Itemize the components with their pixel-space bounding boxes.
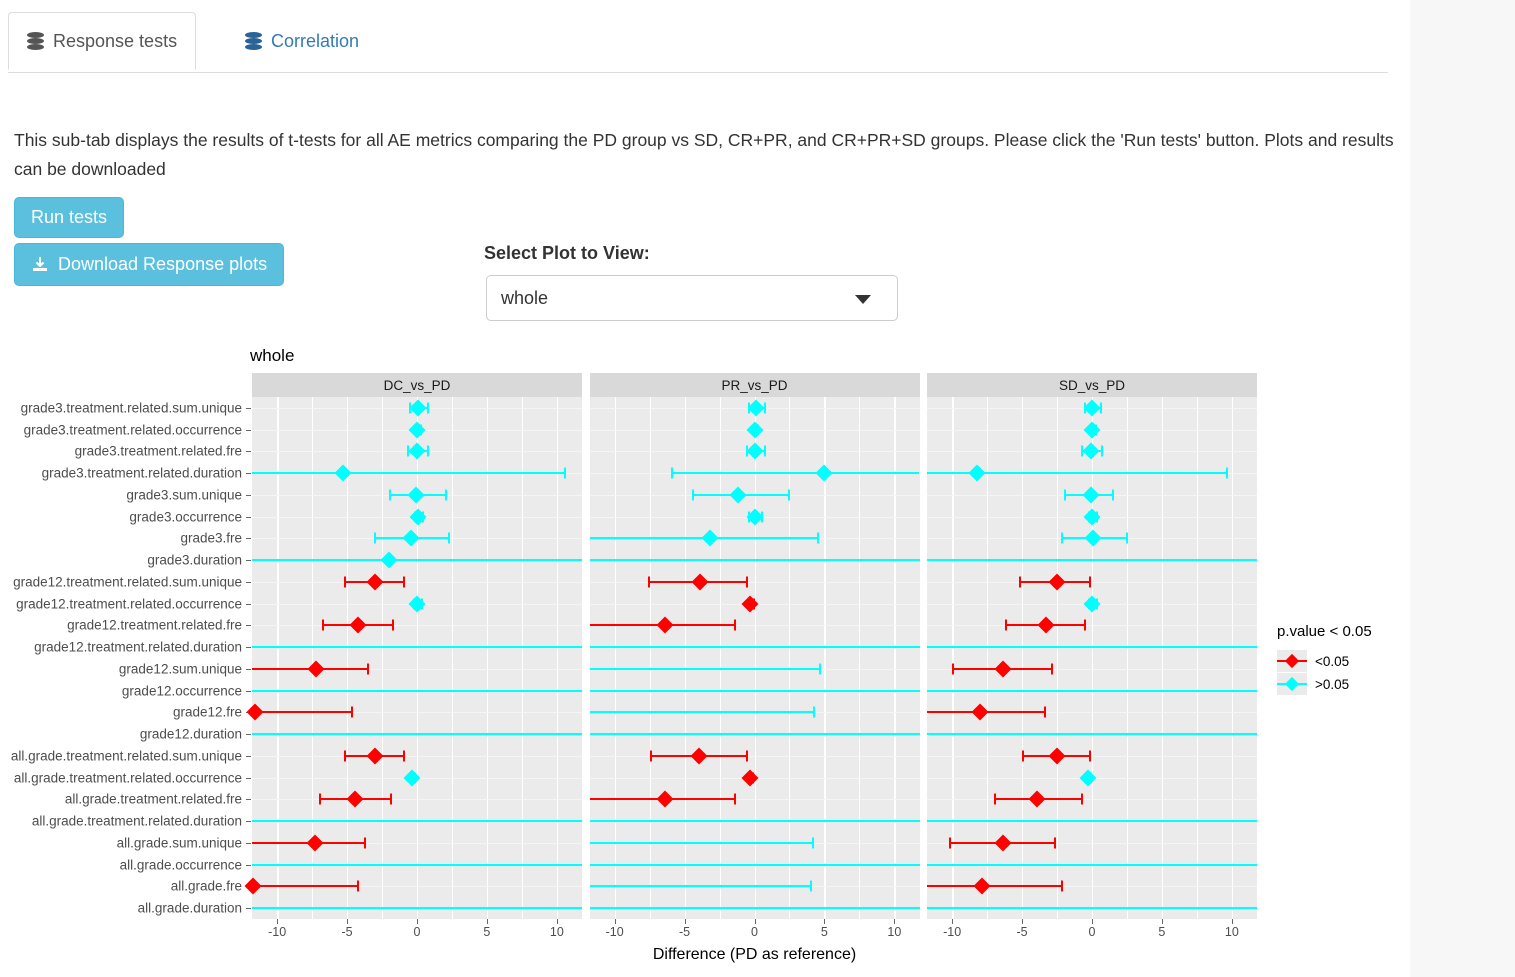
database-icon <box>27 32 44 50</box>
confidence-interval <box>927 885 1061 887</box>
x-tick-mark <box>952 919 953 924</box>
ci-whisker <box>344 750 346 761</box>
x-tick-mark <box>685 919 686 924</box>
y-tick-mark <box>246 408 251 409</box>
y-tick-mark <box>246 582 251 583</box>
ci-whisker <box>812 837 814 848</box>
ci-whisker <box>817 533 819 544</box>
ci-whisker <box>1064 489 1066 500</box>
tab-bar: Response tests Correlation <box>8 12 1388 73</box>
run-tests-label: Run tests <box>31 207 107 228</box>
y-axis-label: grade12.duration <box>0 727 242 742</box>
x-tick-mark <box>755 919 756 924</box>
confidence-interval <box>252 885 357 887</box>
ci-whisker <box>322 620 324 631</box>
select-plot-label: Select Plot to View: <box>484 243 650 264</box>
x-tick-label: -5 <box>1017 925 1028 939</box>
ci-whisker <box>1126 533 1128 544</box>
y-tick-mark <box>246 451 251 452</box>
ci-whisker <box>392 620 394 631</box>
x-tick-label: -5 <box>342 925 353 939</box>
download-icon <box>31 256 49 274</box>
y-tick-mark <box>246 430 251 431</box>
tab-label: Correlation <box>271 31 359 52</box>
x-tick-label: 0 <box>751 925 758 939</box>
y-axis-label: grade12.treatment.related.fre <box>0 618 242 633</box>
y-tick-mark <box>246 473 251 474</box>
y-axis-label: grade12.occurrence <box>0 683 242 698</box>
confidence-interval <box>252 907 582 909</box>
facet-panel <box>590 397 920 919</box>
y-axis-label: all.grade.duration <box>0 901 242 916</box>
confidence-interval <box>927 733 1257 735</box>
y-tick-mark <box>246 821 251 822</box>
confidence-interval <box>252 690 582 692</box>
ci-whisker <box>746 750 748 761</box>
ci-whisker <box>364 837 366 848</box>
legend-key <box>1277 673 1307 695</box>
ci-whisker <box>403 750 405 761</box>
facet-header: DC_vs_PD <box>252 373 582 397</box>
confidence-interval <box>252 820 582 822</box>
x-tick-mark <box>277 919 278 924</box>
confidence-interval <box>590 690 920 692</box>
confidence-interval <box>927 820 1257 822</box>
x-tick-label: 5 <box>483 925 490 939</box>
confidence-interval <box>590 885 811 887</box>
select-plot-dropdown[interactable]: whole <box>486 275 898 321</box>
confidence-interval <box>590 646 920 648</box>
confidence-interval <box>590 559 920 561</box>
y-axis-label: all.grade.treatment.related.occurrence <box>0 770 242 785</box>
x-tick-mark <box>1162 919 1163 924</box>
x-tick-mark <box>1092 919 1093 924</box>
y-axis-label: grade3.treatment.related.duration <box>0 466 242 481</box>
y-tick-mark <box>246 495 251 496</box>
y-tick-mark <box>246 734 251 735</box>
x-tick-label: -10 <box>268 925 286 939</box>
ci-whisker <box>1061 533 1063 544</box>
tab-response-tests[interactable]: Response tests <box>8 12 196 70</box>
tab-label: Response tests <box>53 31 177 52</box>
y-axis-label: all.grade.treatment.related.sum.unique <box>0 748 242 763</box>
y-axis-label: grade3.treatment.related.occurrence <box>0 422 242 437</box>
x-tick-mark <box>824 919 825 924</box>
ci-whisker <box>1089 750 1091 761</box>
x-tick-mark <box>1232 919 1233 924</box>
confidence-interval <box>590 864 920 866</box>
x-tick-label: 10 <box>1225 925 1239 939</box>
ci-whisker <box>1112 489 1114 500</box>
ci-whisker <box>319 794 321 805</box>
ci-whisker <box>1022 750 1024 761</box>
ci-whisker <box>1044 707 1046 718</box>
ci-whisker <box>1081 794 1083 805</box>
y-axis-label: all.grade.occurrence <box>0 857 242 872</box>
ci-whisker <box>734 794 736 805</box>
x-tick-mark <box>417 919 418 924</box>
legend-label: <0.05 <box>1315 654 1349 669</box>
y-axis-label: grade12.sum.unique <box>0 661 242 676</box>
confidence-interval <box>590 668 819 670</box>
y-tick-mark <box>246 625 251 626</box>
ci-whisker <box>1084 620 1086 631</box>
x-tick-label: 5 <box>821 925 828 939</box>
ci-whisker <box>564 468 566 479</box>
chevron-down-icon <box>855 295 871 304</box>
ci-whisker <box>952 663 954 674</box>
facet-header: PR_vs_PD <box>590 373 920 397</box>
x-tick-label: 10 <box>887 925 901 939</box>
confidence-interval <box>927 646 1257 648</box>
y-axis-label: all.grade.treatment.related.duration <box>0 814 242 829</box>
y-axis-label: grade3.occurrence <box>0 509 242 524</box>
y-tick-mark <box>246 799 251 800</box>
confidence-interval <box>252 646 582 648</box>
ci-whisker <box>357 881 359 892</box>
confidence-interval <box>927 690 1257 692</box>
app-page: Response tests Correlation This sub-tab … <box>0 0 1410 977</box>
ci-whisker <box>1089 576 1091 587</box>
confidence-interval <box>590 733 920 735</box>
ci-whisker <box>1226 468 1228 479</box>
ci-whisker <box>1051 663 1053 674</box>
run-tests-button[interactable]: Run tests <box>14 197 124 238</box>
ci-whisker <box>764 446 766 457</box>
x-tick-label: 0 <box>1089 925 1096 939</box>
ci-whisker <box>1054 837 1056 848</box>
subtab-description: This sub-tab displays the results of t-t… <box>14 126 1394 184</box>
x-tick-mark <box>1022 919 1023 924</box>
confidence-interval <box>927 864 1257 866</box>
confidence-interval <box>252 472 564 474</box>
y-tick-mark <box>246 604 251 605</box>
ci-whisker <box>367 663 369 674</box>
tab-correlation[interactable]: Correlation <box>226 12 378 70</box>
ci-whisker <box>403 576 405 587</box>
y-axis-label: grade12.treatment.related.occurrence <box>0 596 242 611</box>
x-tick-label: 5 <box>1158 925 1165 939</box>
x-tick-label: -10 <box>943 925 961 939</box>
ci-whisker <box>389 489 391 500</box>
download-response-plots-button[interactable]: Download Response plots <box>14 243 284 286</box>
ci-whisker <box>788 489 790 500</box>
x-tick-mark <box>487 919 488 924</box>
confidence-interval <box>927 907 1257 909</box>
ci-whisker <box>813 707 815 718</box>
ci-whisker <box>810 881 812 892</box>
confidence-interval <box>927 559 1257 561</box>
ci-whisker <box>374 533 376 544</box>
x-tick-mark <box>894 919 895 924</box>
y-axis-label: grade3.treatment.related.fre <box>0 444 242 459</box>
y-tick-mark <box>246 517 251 518</box>
download-plots-label: Download Response plots <box>58 254 267 275</box>
y-axis-label: grade12.treatment.related.sum.unique <box>0 574 242 589</box>
ci-whisker <box>949 837 951 848</box>
facet-header: SD_vs_PD <box>927 373 1257 397</box>
ci-whisker <box>1061 881 1063 892</box>
x-axis-title: Difference (PD as reference) <box>653 946 856 964</box>
y-tick-mark <box>246 691 251 692</box>
confidence-interval <box>252 733 582 735</box>
y-axis-label: all.grade.sum.unique <box>0 835 242 850</box>
facet-panel <box>252 397 582 919</box>
y-axis-label: grade3.fre <box>0 531 242 546</box>
y-tick-mark <box>246 865 251 866</box>
ci-whisker <box>1019 576 1021 587</box>
y-tick-mark <box>246 908 251 909</box>
confidence-interval <box>590 820 920 822</box>
confidence-interval <box>590 842 812 844</box>
y-axis-label: grade3.treatment.related.sum.unique <box>0 400 242 415</box>
x-tick-label: 10 <box>550 925 564 939</box>
ci-whisker <box>448 533 450 544</box>
ci-whisker <box>1005 620 1007 631</box>
y-tick-mark <box>246 538 251 539</box>
ci-whisker <box>344 576 346 587</box>
y-axis-label: grade3.duration <box>0 553 242 568</box>
plot-title: whole <box>250 346 294 366</box>
y-axis-label: grade12.fre <box>0 705 242 720</box>
y-axis-label: grade3.sum.unique <box>0 487 242 502</box>
y-tick-mark <box>246 756 251 757</box>
legend-title: p.value < 0.05 <box>1277 623 1372 640</box>
ci-whisker <box>650 750 652 761</box>
ci-whisker <box>390 794 392 805</box>
x-tick-mark <box>615 919 616 924</box>
ci-whisker <box>427 446 429 457</box>
ci-whisker <box>746 576 748 587</box>
ci-whisker <box>819 663 821 674</box>
y-tick-mark <box>246 778 251 779</box>
x-tick-label: -10 <box>606 925 624 939</box>
y-tick-mark <box>246 669 251 670</box>
y-tick-mark <box>246 560 251 561</box>
ci-whisker <box>671 468 673 479</box>
x-tick-label: -5 <box>679 925 690 939</box>
ci-whisker <box>692 489 694 500</box>
confidence-interval <box>671 472 920 474</box>
y-axis-label: all.grade.fre <box>0 879 242 894</box>
y-tick-mark <box>246 843 251 844</box>
confidence-interval <box>252 559 582 561</box>
legend-label: >0.05 <box>1315 677 1349 692</box>
y-axis-label: grade12.treatment.related.duration <box>0 640 242 655</box>
ci-whisker <box>1101 446 1103 457</box>
confidence-interval <box>590 711 814 713</box>
x-tick-label: 0 <box>414 925 421 939</box>
ci-whisker <box>994 794 996 805</box>
y-axis-label: all.grade.treatment.related.fre <box>0 792 242 807</box>
database-icon <box>245 32 262 50</box>
select-plot-value: whole <box>501 288 548 309</box>
ci-whisker <box>734 620 736 631</box>
x-tick-mark <box>557 919 558 924</box>
y-tick-mark <box>246 647 251 648</box>
confidence-interval <box>590 907 920 909</box>
ci-whisker <box>445 489 447 500</box>
confidence-interval <box>252 864 582 866</box>
ci-whisker <box>648 576 650 587</box>
ci-whisker <box>427 402 429 413</box>
forest-plot: whole DC_vs_PDPR_vs_PDSD_vs_PDgrade3.tre… <box>0 340 1410 970</box>
legend-key <box>1277 650 1307 672</box>
x-tick-mark <box>347 919 348 924</box>
confidence-interval <box>252 711 351 713</box>
ci-whisker <box>351 707 353 718</box>
